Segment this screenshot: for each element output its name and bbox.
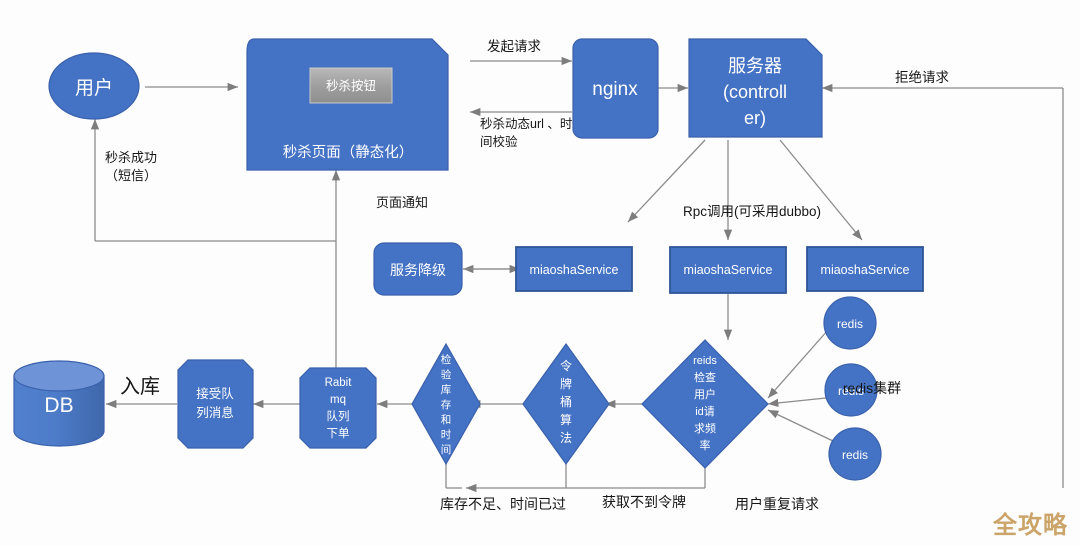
edge-redis3-to-freq bbox=[768, 410, 833, 441]
node-diamond-check-stock-char-1: 检 bbox=[441, 353, 452, 366]
node-user[interactable]: 用户 bbox=[49, 53, 139, 119]
redis-cluster-label: redis集群 bbox=[843, 380, 901, 396]
node-miaosha-service-3-label: miaoshaService bbox=[821, 263, 910, 277]
node-rabbitmq-line-4: 下单 bbox=[327, 427, 350, 440]
node-diamond-check-frequency-line-4: id请 bbox=[695, 405, 715, 418]
diagram-canvas: 用户 秒杀页面（静态化） 秒杀按钮 nginx 服务器 (controll er… bbox=[0, 0, 1080, 546]
node-diamond-token-bucket-char-5: 法 bbox=[560, 431, 572, 445]
edge-label-sms-line-2: （短信） bbox=[105, 168, 157, 183]
node-seckill-page[interactable]: 秒杀页面（静态化） bbox=[247, 39, 448, 170]
node-database[interactable]: DB bbox=[14, 361, 104, 446]
node-rabbitmq-line-2: mq bbox=[330, 394, 346, 406]
diagram-svg: 用户 秒杀页面（静态化） 秒杀按钮 nginx 服务器 (controll er… bbox=[0, 0, 1080, 546]
node-diamond-check-frequency-line-1: reids bbox=[693, 355, 717, 367]
node-diamond-check-stock-char-7: 间 bbox=[441, 443, 452, 456]
node-diamond-check-stock-char-4: 存 bbox=[441, 398, 452, 411]
edge-redis1-to-freq bbox=[768, 330, 828, 398]
node-server-label-2: (controll bbox=[723, 82, 787, 102]
node-seckill-page-label: 秒杀页面（静态化） bbox=[283, 144, 414, 161]
edge-label-dynamic-url-line-2: 间校验 bbox=[480, 134, 518, 149]
node-redis-1-label: redis bbox=[837, 317, 863, 331]
node-seckill-button[interactable]: 秒杀按钮 bbox=[310, 68, 392, 103]
node-diamond-check-stock-char-6: 时 bbox=[441, 429, 452, 441]
node-miaosha-service-1-label: miaoshaService bbox=[530, 263, 619, 277]
node-redis-3-label: redis bbox=[842, 448, 868, 462]
node-rabbitmq-line-3: 队列 bbox=[327, 409, 350, 423]
node-diamond-token-bucket-char-2: 牌 bbox=[560, 377, 572, 391]
node-diamond-check-stock-char-2: 验 bbox=[441, 368, 452, 381]
node-diamond-check-frequency[interactable]: reids 检查 用户 id请 求频 率 bbox=[642, 340, 768, 468]
node-rabbitmq-line-1: Rabit bbox=[325, 377, 353, 389]
node-diamond-token-bucket-char-3: 桶 bbox=[560, 394, 572, 409]
node-diamond-check-frequency-line-2: 检查 bbox=[694, 370, 716, 384]
node-diamond-check-stock-char-5: 和 bbox=[441, 414, 452, 426]
node-mq-receiver-line-1: 接受队 bbox=[196, 386, 234, 401]
node-seckill-button-label: 秒杀按钮 bbox=[326, 78, 376, 93]
edge-label-dup-request: 用户重复请求 bbox=[735, 496, 819, 512]
node-diamond-check-frequency-line-3: 用户 bbox=[694, 387, 716, 401]
watermark: 全攻略 bbox=[993, 505, 1068, 540]
edge-label-stock-fail: 库存不足、时间已过 bbox=[440, 496, 566, 512]
node-service-degrade-label: 服务降级 bbox=[390, 262, 446, 278]
node-miaosha-service-3[interactable]: miaoshaService bbox=[807, 247, 923, 291]
node-diamond-check-frequency-line-6: 率 bbox=[700, 438, 711, 452]
node-nginx[interactable]: nginx bbox=[573, 39, 658, 138]
node-redis-1[interactable]: redis bbox=[824, 297, 876, 349]
edge-label-dynamic-url-line-1: 秒杀动态url 、时 bbox=[480, 116, 573, 131]
edge-label-start-request: 发起请求 bbox=[487, 39, 541, 54]
edge-label-sms-line-1: 秒杀成功 bbox=[105, 150, 157, 165]
edge-label-into-db: 入库 bbox=[120, 375, 160, 398]
node-server[interactable]: 服务器 (controll er) bbox=[689, 39, 822, 137]
node-server-label-1: 服务器 bbox=[728, 56, 782, 76]
node-database-label: DB bbox=[44, 394, 73, 417]
node-diamond-token-bucket[interactable]: 令 牌 桶 算 法 bbox=[523, 344, 609, 464]
node-diamond-check-stock[interactable]: 检 验 库 存 和 时 间 bbox=[412, 344, 480, 464]
node-mq-receiver[interactable]: 接受队 列消息 bbox=[178, 360, 253, 448]
node-miaosha-service-2-label: miaoshaService bbox=[684, 263, 773, 277]
edge-redis2-to-freq bbox=[768, 398, 826, 404]
node-diamond-token-bucket-char-4: 算 bbox=[560, 412, 572, 427]
edge-label-rpc: Rpc调用(可采用dubbo) bbox=[683, 204, 821, 219]
node-rabbitmq[interactable]: Rabit mq 队列 下单 bbox=[300, 368, 376, 448]
edge-server-to-svc3 bbox=[780, 140, 862, 240]
node-user-label: 用户 bbox=[75, 77, 113, 99]
node-server-label-3: er) bbox=[744, 108, 766, 128]
edge-label-token-fail: 获取不到令牌 bbox=[602, 494, 686, 510]
edge-label-reject-request: 拒绝请求 bbox=[895, 70, 949, 85]
edge-label-page-notify: 页面通知 bbox=[376, 195, 428, 210]
node-service-degrade[interactable]: 服务降级 bbox=[374, 243, 462, 295]
node-miaosha-service-1[interactable]: miaoshaService bbox=[516, 247, 632, 291]
node-redis-3[interactable]: redis bbox=[829, 428, 881, 480]
node-diamond-token-bucket-char-1: 令 bbox=[560, 358, 572, 373]
node-diamond-check-frequency-line-5: 求频 bbox=[694, 421, 716, 435]
node-mq-receiver-line-2: 列消息 bbox=[196, 405, 234, 420]
node-miaosha-service-2[interactable]: miaoshaService bbox=[670, 247, 786, 293]
node-diamond-check-stock-char-3: 库 bbox=[441, 383, 452, 396]
node-nginx-label: nginx bbox=[592, 79, 638, 100]
